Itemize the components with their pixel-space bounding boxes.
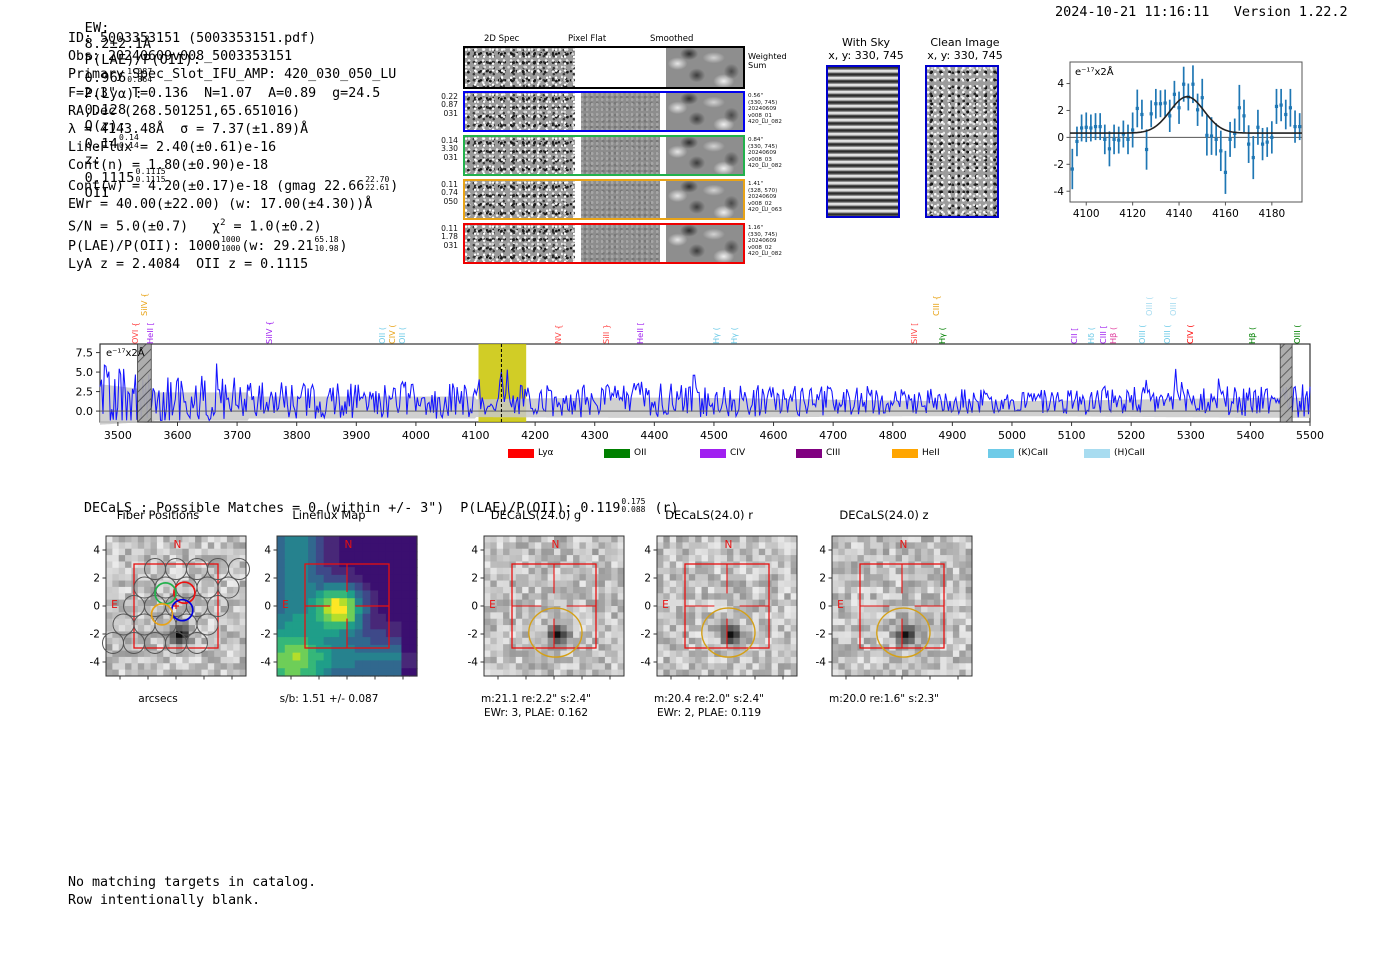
info-line-radec: RA,Dec (268.501251,65.651016) bbox=[68, 103, 398, 121]
footer-line-1: No matching targets in catalog. bbox=[68, 874, 316, 892]
legend-swatch bbox=[604, 449, 630, 458]
info-line-ewr: EWr = 40.00(±22.00) (w: 17.00(±4.30))Å bbox=[68, 196, 398, 214]
svg-text:2: 2 bbox=[644, 573, 651, 585]
svg-text:4600: 4600 bbox=[760, 429, 788, 442]
legend-swatch bbox=[700, 449, 726, 458]
info-line-obs: Obs: 20240609v008_5003353151 bbox=[68, 48, 398, 66]
line-label-h-18: Hβ ( bbox=[1109, 298, 1117, 344]
svg-text:0: 0 bbox=[644, 601, 651, 613]
svg-text:5000: 5000 bbox=[998, 429, 1026, 442]
svg-text:4100: 4100 bbox=[1073, 208, 1100, 220]
svg-text:-4: -4 bbox=[90, 657, 101, 669]
svg-text:4700: 4700 bbox=[819, 429, 847, 442]
line-label-heii-9: HeII [ bbox=[636, 298, 644, 344]
line-label-oii-6: OII ( bbox=[398, 298, 406, 344]
line-label-oii-4: OII ( bbox=[378, 298, 386, 344]
svg-text:3600: 3600 bbox=[163, 429, 191, 442]
svg-text:4200: 4200 bbox=[521, 429, 549, 442]
clean-image-data bbox=[925, 65, 999, 218]
cutout-sub1-0: arcsecs bbox=[62, 693, 254, 705]
info-line-seeing: F=2.3" T=0.136 N=1.07 A=0.89 g=24.5 bbox=[68, 85, 398, 103]
line-label-nv-7: NV { bbox=[554, 298, 562, 344]
svg-text:2: 2 bbox=[201, 682, 208, 683]
line-label-siiv-3: SiIV { bbox=[265, 298, 273, 344]
svg-text:5400: 5400 bbox=[1236, 429, 1264, 442]
svg-text:E: E bbox=[111, 599, 118, 611]
info-line-id: ID: 5003353151 (5003353151.pdf) bbox=[68, 30, 398, 48]
svg-text:3700: 3700 bbox=[223, 429, 251, 442]
svg-text:0: 0 bbox=[471, 601, 478, 613]
legend-item-kcaii: (K)CaII bbox=[988, 448, 1048, 458]
line-label-ciii-17: CIII [ bbox=[1099, 298, 1107, 344]
info-line-lambda-sigma: λ = 4143.48Å σ = 7.37(±1.89)Å bbox=[68, 121, 398, 139]
cutout-sub2-2: EWr: 3, PLAE: 0.162 bbox=[440, 707, 632, 719]
svg-text:2: 2 bbox=[927, 682, 934, 683]
svg-text:N: N bbox=[899, 539, 907, 551]
info-line-cont-w: Cont(w) = 4.20(±0.17)e-18 (gmag 22.6622.… bbox=[68, 176, 398, 196]
2d-spectra-montage: 2D Spec Pixel Flat Smoothed Weighted Sum… bbox=[428, 34, 758, 249]
cutout-sub1-2: m:21.1 re:2.2" s:2.4" bbox=[440, 693, 632, 705]
svg-text:-2: -2 bbox=[694, 682, 704, 683]
svg-text:4140: 4140 bbox=[1166, 208, 1193, 220]
with-sky-coords: x, y: 330, 745 bbox=[826, 49, 906, 62]
svg-text:4: 4 bbox=[400, 682, 407, 683]
line-label-civ-5: CIV ( bbox=[388, 298, 396, 344]
row-label-2: 0.143.30031 bbox=[428, 137, 458, 162]
svg-text:0: 0 bbox=[724, 682, 731, 683]
svg-text:4: 4 bbox=[93, 545, 100, 557]
cutout-image-3[interactable]: NE-4-4-2-2002244 bbox=[613, 508, 805, 683]
cutout-image-2[interactable]: NE-4-4-2-2002244 bbox=[440, 508, 632, 683]
row-label-1: 0.220.87031 bbox=[428, 93, 458, 118]
object-info-block: ID: 5003353151 (5003353151.pdf) Obs: 202… bbox=[68, 30, 398, 275]
row-meta-3: 1.41"(328, 570)20240609v008_02420_LU_063 bbox=[748, 181, 808, 214]
col-title-smoothed: Smoothed bbox=[650, 34, 693, 44]
svg-text:-4: -4 bbox=[641, 657, 652, 669]
line-label-h-16: Hδ ( bbox=[1087, 298, 1095, 344]
cutout-title-3: DECaLS(24.0) r bbox=[613, 508, 805, 522]
svg-text:E: E bbox=[282, 599, 289, 611]
with-sky-panel: With Sky x, y: 330, 745 bbox=[826, 36, 906, 218]
with-sky-title: With Sky bbox=[826, 36, 906, 49]
spec-row-1 bbox=[463, 91, 745, 132]
svg-text:4300: 4300 bbox=[581, 429, 609, 442]
svg-text:-4: -4 bbox=[115, 682, 126, 683]
cutout-panel-2: DECaLS(24.0) gNE-4-4-2-2002244m:21.1 re:… bbox=[440, 508, 632, 708]
svg-text:-2: -2 bbox=[1054, 159, 1064, 171]
legend-label: Lyα bbox=[538, 448, 553, 458]
info-line-lineflux: LineFlux = 2.40(±0.61)e-16 bbox=[68, 139, 398, 157]
svg-text:2: 2 bbox=[1057, 105, 1064, 117]
svg-text:e⁻¹⁷x2Å: e⁻¹⁷x2Å bbox=[106, 346, 145, 359]
legend-swatch bbox=[796, 449, 822, 458]
svg-text:0: 0 bbox=[899, 682, 906, 683]
svg-text:-2: -2 bbox=[816, 629, 826, 641]
svg-text:N: N bbox=[173, 539, 181, 551]
svg-text:0: 0 bbox=[551, 682, 558, 683]
svg-text:-4: -4 bbox=[261, 657, 272, 669]
info-line-primary-spec: Primary Spec_Slot_IFU_AMP: 420_030_050_L… bbox=[68, 66, 398, 84]
svg-text:E: E bbox=[489, 599, 496, 611]
col-title-2dspec: 2D Spec bbox=[484, 34, 519, 44]
line-label-oiii-20: OIII ( bbox=[1145, 270, 1153, 316]
svg-text:-4: -4 bbox=[493, 682, 504, 683]
clean-image-coords: x, y: 330, 745 bbox=[925, 49, 1005, 62]
line-label-h-14: Hγ ( bbox=[938, 298, 946, 344]
line-label-h-10: Hγ ( bbox=[712, 298, 720, 344]
legend-label: OII bbox=[634, 448, 646, 458]
svg-text:2: 2 bbox=[752, 682, 759, 683]
spec-row-3 bbox=[463, 179, 745, 220]
row-meta-2: 0.84"(330, 745)20240609v008_03420_LU_082 bbox=[748, 137, 808, 170]
legend-swatch bbox=[1084, 449, 1110, 458]
legend-item-civ: CIV bbox=[700, 448, 745, 458]
svg-text:N: N bbox=[551, 539, 559, 551]
weighted-sum-label: Weighted Sum bbox=[748, 52, 787, 71]
svg-text:N: N bbox=[344, 539, 352, 551]
svg-text:4800: 4800 bbox=[879, 429, 907, 442]
svg-text:0: 0 bbox=[264, 601, 271, 613]
line-label-heii-2: HeII [ bbox=[146, 298, 154, 344]
clean-image-panel: Clean Image x, y: 330, 745 bbox=[925, 36, 1005, 218]
legend-label: (K)CaII bbox=[1018, 448, 1048, 458]
row-meta-1: 0.56"(330, 745)20240609v008_01420_LU_082 bbox=[748, 93, 808, 126]
line-label-cii-15: CII [ bbox=[1070, 298, 1078, 344]
svg-text:3900: 3900 bbox=[342, 429, 370, 442]
row-label-4: 0.111.78031 bbox=[428, 225, 458, 250]
legend-label: (H)CaII bbox=[1114, 448, 1145, 458]
svg-text:7.5: 7.5 bbox=[76, 347, 94, 360]
line-fit-chart: 41004120414041604180-4-2024e⁻¹⁷x2Å bbox=[1036, 50, 1308, 236]
line-label-ovi-1: OVI { bbox=[131, 298, 139, 344]
svg-text:0: 0 bbox=[93, 601, 100, 613]
line-label-oiii-22: OIII ( bbox=[1169, 270, 1177, 316]
svg-text:-2: -2 bbox=[869, 682, 879, 683]
svg-text:2: 2 bbox=[372, 682, 379, 683]
cutout-sub1-4: m:20.0 re:1.6" s:2.3" bbox=[788, 693, 980, 705]
info-line-sn-chi2: S/N = 5.0(±0.7) χ2 = 1.0(±0.2) bbox=[68, 214, 398, 237]
svg-text:5500: 5500 bbox=[1296, 429, 1324, 442]
line-label-civ-23: CIV ( bbox=[1186, 298, 1194, 344]
svg-text:3800: 3800 bbox=[283, 429, 311, 442]
footer-line-2: Row intentionally blank. bbox=[68, 892, 316, 910]
svg-text:2: 2 bbox=[819, 573, 826, 585]
svg-text:-2: -2 bbox=[521, 682, 531, 683]
svg-text:-4: -4 bbox=[841, 682, 852, 683]
info-line-plae-ratio: P(LAE)/P(OII): 100010001000(w: 29.2165.1… bbox=[68, 236, 398, 256]
spec-row-2 bbox=[463, 135, 745, 176]
cutout-title-1: Lineflux Map bbox=[233, 508, 425, 522]
svg-text:5.0: 5.0 bbox=[76, 366, 94, 379]
svg-text:4000: 4000 bbox=[402, 429, 430, 442]
cutout-title-4: DECaLS(24.0) z bbox=[788, 508, 980, 522]
svg-text:-2: -2 bbox=[90, 629, 100, 641]
cutout-panel-4: DECaLS(24.0) zNE-4-4-2-2002244m:20.0 re:… bbox=[788, 508, 980, 708]
svg-text:-4: -4 bbox=[286, 682, 297, 683]
info-line-cont-n: Cont(n) = 1.80(±0.90)e-18 bbox=[68, 157, 398, 175]
cutout-panel-1: Lineflux MapNE-4-4-2-2002244s/b: 1.51 +/… bbox=[233, 508, 425, 708]
svg-text:4180: 4180 bbox=[1258, 208, 1285, 220]
line-label-siii-8: SiII } bbox=[602, 298, 610, 344]
cutout-image-0[interactable]: NE-4-4-2-2002244 bbox=[62, 508, 254, 683]
line-label-siiv-12: SiIV [ bbox=[910, 298, 918, 344]
line-label-h-24: Hβ ( bbox=[1248, 298, 1256, 344]
cutout-sub1-3: m:20.4 re:2.0" s:2.4" bbox=[613, 693, 805, 705]
line-label-h-11: Hγ ( bbox=[730, 298, 738, 344]
svg-text:-2: -2 bbox=[261, 629, 271, 641]
svg-text:4: 4 bbox=[264, 545, 271, 557]
svg-text:4: 4 bbox=[1057, 78, 1064, 90]
cutout-panel-3: DECaLS(24.0) rNE-4-4-2-2002244m:20.4 re:… bbox=[613, 508, 805, 708]
svg-text:5200: 5200 bbox=[1117, 429, 1145, 442]
svg-text:0: 0 bbox=[1057, 132, 1064, 144]
svg-text:-4: -4 bbox=[666, 682, 677, 683]
legend-swatch bbox=[988, 449, 1014, 458]
svg-text:e⁻¹⁷x2Å: e⁻¹⁷x2Å bbox=[1075, 65, 1114, 78]
cutout-image-1[interactable]: NE-4-4-2-2002244 bbox=[233, 508, 425, 683]
svg-text:4: 4 bbox=[644, 545, 651, 557]
svg-text:4: 4 bbox=[471, 545, 478, 557]
row-meta-4: 1.16"(330, 745)20240609v008_02420_LU_082 bbox=[748, 225, 808, 258]
svg-text:2: 2 bbox=[471, 573, 478, 585]
legend-label: CIII bbox=[826, 448, 840, 458]
cutout-row: Fiber PositionsNE-4-4-2-2002244arcsecsLi… bbox=[0, 508, 1400, 718]
row-label-3: 0.110.74050 bbox=[428, 181, 458, 206]
legend-item-ly: Lyα bbox=[508, 448, 553, 458]
svg-text:4100: 4100 bbox=[462, 429, 490, 442]
legend-item-ciii: CIII bbox=[796, 448, 840, 458]
svg-text:3500: 3500 bbox=[104, 429, 132, 442]
svg-text:4900: 4900 bbox=[938, 429, 966, 442]
svg-text:4160: 4160 bbox=[1212, 208, 1239, 220]
svg-text:-4: -4 bbox=[1054, 186, 1065, 198]
legend-item-hcaii: (H)CaII bbox=[1084, 448, 1145, 458]
svg-text:5100: 5100 bbox=[1058, 429, 1086, 442]
cutout-panel-0: Fiber PositionsNE-4-4-2-2002244arcsecs bbox=[62, 508, 254, 708]
weighted-sum-row bbox=[463, 46, 745, 89]
svg-text:2.5: 2.5 bbox=[76, 386, 94, 399]
spec-row-4 bbox=[463, 223, 745, 264]
clean-image-title: Clean Image bbox=[925, 36, 1005, 49]
svg-text:0.0: 0.0 bbox=[76, 405, 94, 418]
svg-text:0: 0 bbox=[173, 682, 180, 683]
svg-text:2: 2 bbox=[93, 573, 100, 585]
svg-text:4120: 4120 bbox=[1119, 208, 1146, 220]
svg-text:-2: -2 bbox=[143, 682, 153, 683]
col-title-pixelflat: Pixel Flat bbox=[568, 34, 606, 44]
legend-label: HeII bbox=[922, 448, 940, 458]
legend-swatch bbox=[892, 449, 918, 458]
legend-swatch bbox=[508, 449, 534, 458]
svg-text:N: N bbox=[724, 539, 732, 551]
svg-text:-2: -2 bbox=[314, 682, 324, 683]
svg-text:4: 4 bbox=[780, 682, 787, 683]
with-sky-image bbox=[826, 65, 900, 218]
legend-item-heii: HeII bbox=[892, 448, 940, 458]
svg-text:-4: -4 bbox=[816, 657, 827, 669]
line-label-oiii-25: OIII ( bbox=[1293, 298, 1301, 344]
cutout-title-2: DECaLS(24.0) g bbox=[440, 508, 632, 522]
svg-text:4500: 4500 bbox=[700, 429, 728, 442]
legend-label: CIV bbox=[730, 448, 745, 458]
timestamp-version: 2024-10-21 11:16:11 Version 1.22.2 bbox=[1055, 4, 1348, 20]
svg-text:E: E bbox=[662, 599, 669, 611]
full-spectrum-chart: 3500360037003800390040004100420043004400… bbox=[0, 262, 1400, 467]
svg-text:4: 4 bbox=[955, 682, 962, 683]
svg-text:0: 0 bbox=[344, 682, 351, 683]
svg-text:5300: 5300 bbox=[1177, 429, 1205, 442]
cutout-sub2-3: EWr: 2, PLAE: 0.119 bbox=[613, 707, 805, 719]
svg-text:4400: 4400 bbox=[640, 429, 668, 442]
svg-text:2: 2 bbox=[579, 682, 586, 683]
svg-text:E: E bbox=[837, 599, 844, 611]
svg-text:2: 2 bbox=[264, 573, 271, 585]
footer-note: No matching targets in catalog. Row inte… bbox=[68, 874, 316, 910]
svg-text:0: 0 bbox=[819, 601, 826, 613]
legend-item-oii: OII bbox=[604, 448, 646, 458]
svg-text:-2: -2 bbox=[641, 629, 651, 641]
svg-text:-4: -4 bbox=[468, 657, 479, 669]
svg-text:4: 4 bbox=[819, 545, 826, 557]
cutout-title-0: Fiber Positions bbox=[62, 508, 254, 522]
cutout-image-4[interactable]: NE-4-4-2-2002244 bbox=[788, 508, 980, 683]
cutout-sub1-1: s/b: 1.51 +/- 0.087 bbox=[233, 693, 425, 705]
svg-text:-2: -2 bbox=[468, 629, 478, 641]
